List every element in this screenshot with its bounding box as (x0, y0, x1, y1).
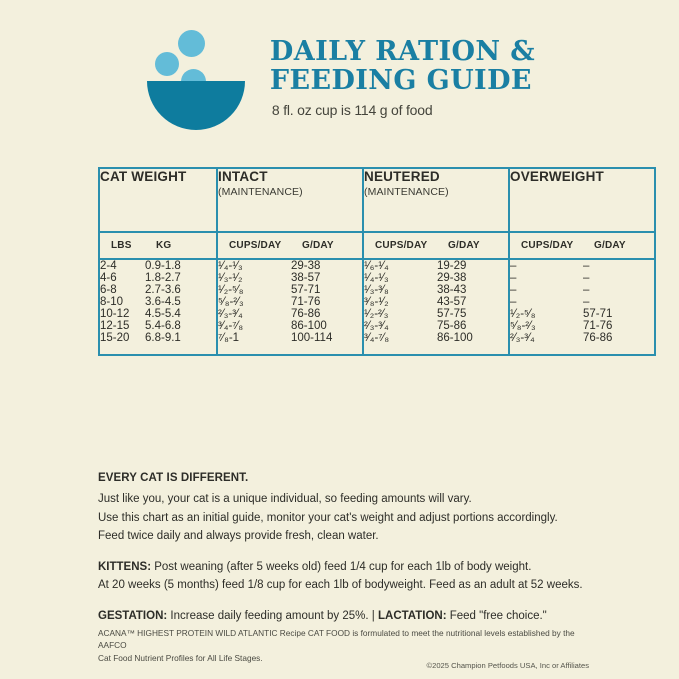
value-lbs: 12-15 (100, 320, 145, 332)
column-header-kg: KG (156, 240, 216, 251)
feeding-table: CAT WEIGHT INTACT (MAINTENANCE) NEUTERED… (98, 167, 656, 356)
footer-notes: EVERY CAT IS DIFFERENT. Just like you, y… (98, 472, 590, 625)
value-kg: 2.7-3.6 (145, 284, 205, 296)
group-title: OVERWEIGHT (510, 169, 654, 184)
value-overweight-grams: – (583, 284, 643, 296)
gestation-lactation-line: GESTATION: Increase daily feeding amount… (98, 607, 590, 625)
feeding-guide-page: DAILY RATION & FEEDING GUIDE 8 fl. oz cu… (0, 0, 679, 679)
value-lbs: 6-8 (100, 284, 145, 296)
value-overweight-grams: – (583, 272, 643, 284)
value-overweight-cups: ²⁄₃-³⁄₄ (510, 332, 583, 344)
value-intact-grams: 71-76 (291, 296, 351, 308)
gestation-text: Increase daily feeding amount by 25%. | (167, 610, 378, 622)
value-overweight-grams: – (583, 296, 643, 308)
column-header-g-day: G/DAY (594, 240, 654, 251)
value-overweight-cups: – (510, 284, 583, 296)
table-subheader-row: LBS KG CUPS/DAY G/DAY CUPS/DAY G/D (99, 232, 655, 259)
group-header-neutered: NEUTERED (MAINTENANCE) (363, 168, 509, 232)
value-intact-cups: ²⁄₃-³⁄₄ (218, 308, 291, 320)
value-lbs: 8-10 (100, 296, 145, 308)
kittens-label: KITTENS: (98, 561, 151, 573)
cell-overweight: ⁵⁄₈-²⁄₃71-76 (509, 320, 655, 332)
cell-neutered: ¹⁄₃-³⁄₈38-43 (363, 284, 509, 296)
cell-overweight: –– (509, 259, 655, 272)
cell-cat-weight: 12-155.4-6.8 (99, 320, 217, 332)
value-intact-grams: 29-38 (291, 260, 351, 272)
cell-cat-weight: 8-103.6-4.5 (99, 296, 217, 308)
cell-intact: ²⁄₃-³⁄₄76-86 (217, 308, 363, 320)
value-overweight-cups: ⁵⁄₈-²⁄₃ (510, 320, 583, 332)
group-subtitle: (MAINTENANCE) (364, 186, 508, 198)
value-kg: 1.8-2.7 (145, 272, 205, 284)
footer-line: Use this chart as an initial guide, moni… (98, 509, 590, 528)
bowl-logo (144, 24, 248, 128)
cell-cat-weight: 6-82.7-3.6 (99, 284, 217, 296)
table-row: 2-40.9-1.8 ¹⁄₄-¹⁄₃29-38 ¹⁄₆-¹⁄₄19-29 –– (99, 259, 655, 272)
value-neutered-grams: 86-100 (437, 332, 497, 344)
group-title: NEUTERED (364, 169, 508, 184)
feeding-table-wrapper: CAT WEIGHT INTACT (MAINTENANCE) NEUTERED… (98, 167, 582, 356)
subheader-overweight: CUPS/DAY G/DAY (509, 232, 655, 259)
group-header-overweight: OVERWEIGHT (509, 168, 655, 232)
cell-overweight: ¹⁄₂-⁵⁄₈57-71 (509, 308, 655, 320)
group-header-cat-weight: CAT WEIGHT (99, 168, 217, 232)
kittens-line-1: KITTENS: Post weaning (after 5 weeks old… (98, 558, 590, 576)
column-header-cups-day: CUPS/DAY (229, 240, 302, 251)
page-subtitle: 8 fl. oz cup is 114 g of food (272, 102, 535, 118)
table-row: 8-103.6-4.5 ⁵⁄₈-²⁄₃71-76 ³⁄₈-¹⁄₂43-57 –– (99, 296, 655, 308)
subheader-intact: CUPS/DAY G/DAY (217, 232, 363, 259)
value-neutered-cups: ¹⁄₆-¹⁄₄ (364, 260, 437, 272)
footer-line: Just like you, your cat is a unique indi… (98, 490, 590, 509)
kittens-line-2: At 20 weeks (5 months) feed 1/8 cup for … (98, 576, 590, 594)
value-neutered-grams: 19-29 (437, 260, 497, 272)
value-neutered-cups: ¹⁄₃-³⁄₈ (364, 284, 437, 296)
value-intact-grams: 57-71 (291, 284, 351, 296)
gestation-label: GESTATION: (98, 610, 167, 622)
value-neutered-grams: 75-86 (437, 320, 497, 332)
subheader-cat-weight: LBS KG (99, 232, 217, 259)
table-row: 12-155.4-6.8 ³⁄₄-⁷⁄₈86-100 ²⁄₃-³⁄₄75-86 … (99, 320, 655, 332)
table-row: 15-206.8-9.1 ⁷⁄₈-1100-114 ³⁄₄-⁷⁄₈86-100 … (99, 332, 655, 355)
value-overweight-cups: ¹⁄₂-⁵⁄₈ (510, 308, 583, 320)
table-row: 10-124.5-5.4 ²⁄₃-³⁄₄76-86 ¹⁄₂-²⁄₃57-75 ¹… (99, 308, 655, 320)
bubble-icon-1 (178, 30, 205, 57)
value-lbs: 15-20 (100, 332, 145, 344)
group-title: INTACT (218, 169, 362, 184)
cell-overweight: –– (509, 296, 655, 308)
cell-neutered: ¹⁄₆-¹⁄₄19-29 (363, 259, 509, 272)
value-neutered-grams: 38-43 (437, 284, 497, 296)
header: DAILY RATION & FEEDING GUIDE 8 fl. oz cu… (0, 0, 679, 128)
cell-neutered: ²⁄₃-³⁄₄75-86 (363, 320, 509, 332)
kittens-text: Post weaning (after 5 weeks old) feed 1/… (151, 561, 531, 573)
column-header-cups-day: CUPS/DAY (375, 240, 448, 251)
value-neutered-cups: ¹⁄₂-²⁄₃ (364, 308, 437, 320)
lactation-label: LACTATION: (378, 610, 447, 622)
value-intact-grams: 38-57 (291, 272, 351, 284)
cell-intact: ¹⁄₃-¹⁄₂38-57 (217, 272, 363, 284)
group-subtitle: (MAINTENANCE) (218, 186, 362, 198)
table-row: 4-61.8-2.7 ¹⁄₃-¹⁄₂38-57 ¹⁄₄-¹⁄₃29-38 –– (99, 272, 655, 284)
value-intact-cups: ¹⁄₂-⁵⁄₈ (218, 284, 291, 296)
page-title: DAILY RATION & FEEDING GUIDE (270, 38, 535, 94)
cell-intact: ¹⁄₄-¹⁄₃29-38 (217, 259, 363, 272)
value-intact-cups: ⁵⁄₈-²⁄₃ (218, 296, 291, 308)
cell-neutered: ³⁄₄-⁷⁄₈86-100 (363, 332, 509, 355)
value-intact-grams: 86-100 (291, 320, 351, 332)
column-header-g-day: G/DAY (448, 240, 508, 251)
value-overweight-grams: 76-86 (583, 332, 643, 344)
value-neutered-grams: 57-75 (437, 308, 497, 320)
value-lbs: 10-12 (100, 308, 145, 320)
value-intact-cups: ³⁄₄-⁷⁄₈ (218, 320, 291, 332)
value-overweight-cups: – (510, 260, 583, 272)
column-header-cups-day: CUPS/DAY (521, 240, 594, 251)
fineprint-line-1: ACANA™ HIGHEST PROTEIN WILD ATLANTIC Rec… (98, 627, 590, 652)
fineprint: ACANA™ HIGHEST PROTEIN WILD ATLANTIC Rec… (98, 627, 590, 664)
value-overweight-cups: – (510, 296, 583, 308)
cell-intact: ³⁄₄-⁷⁄₈86-100 (217, 320, 363, 332)
value-kg: 5.4-6.8 (145, 320, 205, 332)
cell-neutered: ¹⁄₄-¹⁄₃29-38 (363, 272, 509, 284)
value-overweight-grams: 71-76 (583, 320, 643, 332)
cell-intact: ⁵⁄₈-²⁄₃71-76 (217, 296, 363, 308)
column-header-g-day: G/DAY (302, 240, 362, 251)
value-lbs: 2-4 (100, 260, 145, 272)
cell-cat-weight: 4-61.8-2.7 (99, 272, 217, 284)
group-title: CAT WEIGHT (100, 169, 216, 184)
value-overweight-grams: – (583, 260, 643, 272)
bowl-icon (147, 81, 245, 130)
value-intact-grams: 100-114 (291, 332, 351, 344)
value-kg: 4.5-5.4 (145, 308, 205, 320)
footer-line: Feed twice daily and always provide fres… (98, 527, 590, 546)
value-neutered-cups: ³⁄₈-¹⁄₂ (364, 296, 437, 308)
column-header-lbs: LBS (111, 240, 156, 251)
cell-intact: ¹⁄₂-⁵⁄₈57-71 (217, 284, 363, 296)
cell-neutered: ¹⁄₂-²⁄₃57-75 (363, 308, 509, 320)
title-block: DAILY RATION & FEEDING GUIDE 8 fl. oz cu… (270, 34, 535, 117)
value-lbs: 4-6 (100, 272, 145, 284)
value-overweight-cups: – (510, 272, 583, 284)
value-neutered-cups: ¹⁄₄-¹⁄₃ (364, 272, 437, 284)
subheader-neutered: CUPS/DAY G/DAY (363, 232, 509, 259)
cell-overweight: ²⁄₃-³⁄₄76-86 (509, 332, 655, 355)
cell-cat-weight: 2-40.9-1.8 (99, 259, 217, 272)
cell-overweight: –– (509, 272, 655, 284)
table-row: 6-82.7-3.6 ¹⁄₂-⁵⁄₈57-71 ¹⁄₃-³⁄₈38-43 –– (99, 284, 655, 296)
value-kg: 3.6-4.5 (145, 296, 205, 308)
cell-intact: ⁷⁄₈-1100-114 (217, 332, 363, 355)
value-neutered-grams: 29-38 (437, 272, 497, 284)
value-kg: 6.8-9.1 (145, 332, 205, 344)
bubble-icon-2 (155, 52, 179, 76)
value-intact-grams: 76-86 (291, 308, 351, 320)
table-group-header-row: CAT WEIGHT INTACT (MAINTENANCE) NEUTERED… (99, 168, 655, 232)
kittens-block: KITTENS: Post weaning (after 5 weeks old… (98, 558, 590, 595)
group-header-intact: INTACT (MAINTENANCE) (217, 168, 363, 232)
cell-cat-weight: 15-206.8-9.1 (99, 332, 217, 355)
value-neutered-cups: ²⁄₃-³⁄₄ (364, 320, 437, 332)
value-overweight-grams: 57-71 (583, 308, 643, 320)
value-intact-cups: ⁷⁄₈-1 (218, 332, 291, 344)
value-neutered-cups: ³⁄₄-⁷⁄₈ (364, 332, 437, 344)
copyright: ©2025 Champion Petfoods USA, Inc or Affi… (427, 661, 589, 670)
footer-heading: EVERY CAT IS DIFFERENT. (98, 472, 590, 484)
value-intact-cups: ¹⁄₄-¹⁄₃ (218, 260, 291, 272)
lactation-text: Feed "free choice." (447, 610, 547, 622)
value-kg: 0.9-1.8 (145, 260, 205, 272)
value-neutered-grams: 43-57 (437, 296, 497, 308)
title-line-2: FEEDING GUIDE (270, 65, 532, 96)
cell-overweight: –– (509, 284, 655, 296)
cell-neutered: ³⁄₈-¹⁄₂43-57 (363, 296, 509, 308)
gestation-lactation-block: GESTATION: Increase daily feeding amount… (98, 607, 590, 625)
value-intact-cups: ¹⁄₃-¹⁄₂ (218, 272, 291, 284)
cell-cat-weight: 10-124.5-5.4 (99, 308, 217, 320)
title-line-1: DAILY RATION & (270, 36, 535, 67)
